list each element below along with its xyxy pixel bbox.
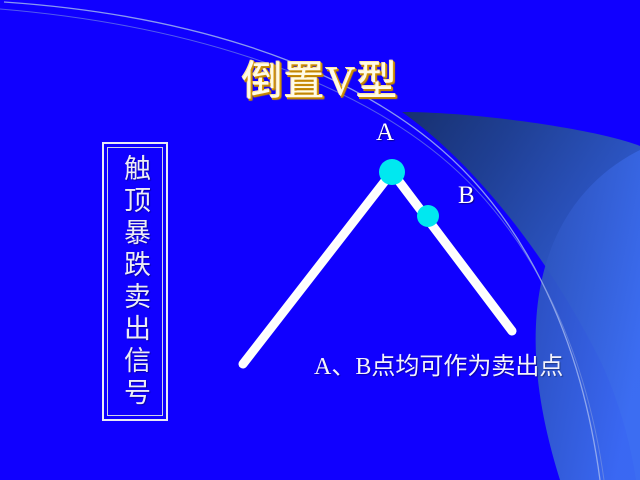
page-title: 倒置V型 xyxy=(0,55,640,107)
point-label-b: B xyxy=(458,183,475,208)
vertical-caption-text: 触顶暴跌卖出信号 xyxy=(119,154,151,410)
vertical-caption-box-inner: 触顶暴跌卖出信号 xyxy=(107,147,163,416)
vertical-caption-box: 触顶暴跌卖出信号 xyxy=(102,142,168,421)
point-label-a: A xyxy=(376,120,394,145)
slide-canvas: 倒置V型 触顶暴跌卖出信号 A B A、B点均可作为卖出点 xyxy=(0,0,640,480)
bottom-caption: A、B点均可作为卖出点 xyxy=(314,352,563,382)
marker-point-b xyxy=(417,205,439,227)
marker-point-a xyxy=(379,159,405,185)
